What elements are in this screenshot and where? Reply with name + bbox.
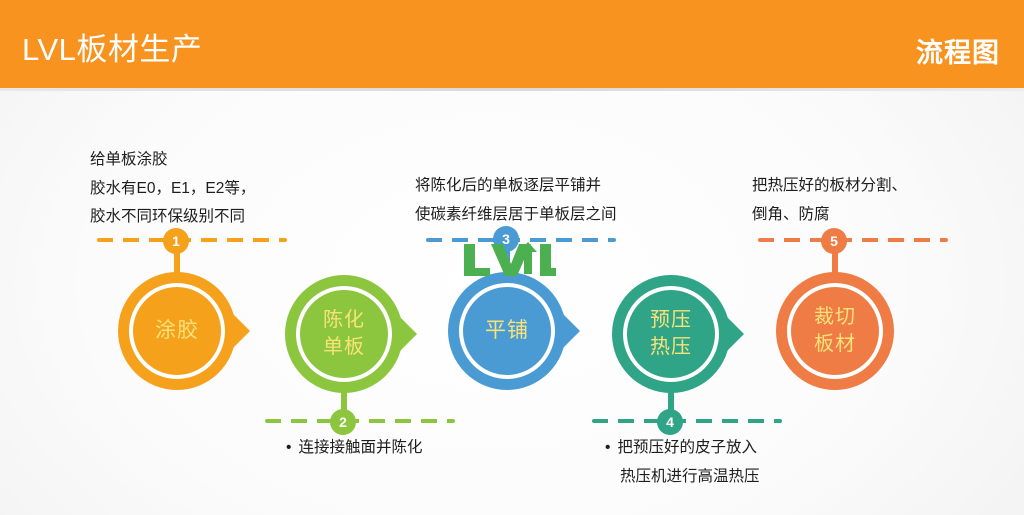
step-5-badge: 5 xyxy=(821,228,847,254)
header-divider xyxy=(0,88,1024,91)
step-4-badge-number: 4 xyxy=(666,415,674,429)
step-1-node-label-line-1: 涂胶 xyxy=(155,317,199,345)
step-5-badge-number: 5 xyxy=(830,234,838,248)
step-4-node-label-line-1: 预压 xyxy=(650,307,692,334)
step-4-node-label: 预压 热压 xyxy=(612,275,730,393)
step-4-node-label-line-2: 热压 xyxy=(650,334,692,361)
lvl-logo xyxy=(462,238,558,280)
step-5-caption: 把热压好的板材分割、 倒角、防腐 xyxy=(752,172,907,229)
step-3-node-label-line-1: 平铺 xyxy=(485,317,529,345)
slide-canvas: LVL板材生产 流程图 给单板涂胶 胶水有E0，E1，E2等， 胶水不同环保级别… xyxy=(0,0,1024,515)
step-5-caption-line-2: 倒角、防腐 xyxy=(752,201,907,230)
step-5-dashed-rule xyxy=(758,238,948,242)
step-1-caption: 给单板涂胶 胶水有E0，E1，E2等， 胶水不同环保级别不同 xyxy=(90,146,255,232)
step-4-circle: 预压 热压 xyxy=(612,275,730,393)
step-1-circle: 涂胶 xyxy=(118,272,236,390)
step-4-caption-line-2: 热压机进行高温热压 xyxy=(605,463,760,492)
step-3-caption-line-2: 使碳素纤维层居于单板层之间 xyxy=(415,201,617,230)
step-3-node-label: 平铺 xyxy=(448,272,566,390)
page-title: LVL板材生产 xyxy=(22,34,202,65)
step-5-node-label-line-1: 裁切 xyxy=(814,304,856,331)
step-2-dashed-rule xyxy=(265,419,455,423)
step-4-dashed-rule xyxy=(592,419,782,423)
step-3-caption: 将陈化后的单板逐层平铺并 使碳素纤维层居于单板层之间 xyxy=(415,172,617,229)
step-1-node-label: 涂胶 xyxy=(118,272,236,390)
slide-header: LVL板材生产 流程图 xyxy=(0,0,1024,88)
step-2-caption: 连接接触面并陈化 xyxy=(286,434,422,463)
step-2-badge-number: 2 xyxy=(339,415,347,429)
step-1-dashed-rule xyxy=(97,238,287,242)
step-5-caption-line-1: 把热压好的板材分割、 xyxy=(752,172,907,201)
step-2-node-label-line-2: 单板 xyxy=(323,334,365,361)
step-3-caption-line-1: 将陈化后的单板逐层平铺并 xyxy=(415,172,617,201)
step-5-node-label: 裁切 板材 xyxy=(776,272,894,390)
step-5-circle: 裁切 板材 xyxy=(776,272,894,390)
step-2-caption-line-1: 连接接触面并陈化 xyxy=(286,434,422,463)
step-4-caption: 把预压好的皮子放入 热压机进行高温热压 xyxy=(605,434,760,491)
step-4-badge: 4 xyxy=(657,409,683,435)
header-tag: 流程图 xyxy=(916,40,1000,67)
step-3-circle: 平铺 xyxy=(448,272,566,390)
step-1-badge-number: 1 xyxy=(172,234,180,248)
step-1-caption-line-1: 给单板涂胶 xyxy=(90,146,255,175)
step-1-badge: 1 xyxy=(163,228,189,254)
step-1-caption-line-2: 胶水有E0，E1，E2等， xyxy=(90,175,255,204)
step-2-node-label: 陈化 单板 xyxy=(285,275,403,393)
step-2-badge: 2 xyxy=(330,409,356,435)
step-5-node-label-line-2: 板材 xyxy=(814,331,856,358)
step-4-caption-line-1: 把预压好的皮子放入 xyxy=(605,434,760,463)
step-2-circle: 陈化 单板 xyxy=(285,275,403,393)
step-2-node-label-line-1: 陈化 xyxy=(323,307,365,334)
